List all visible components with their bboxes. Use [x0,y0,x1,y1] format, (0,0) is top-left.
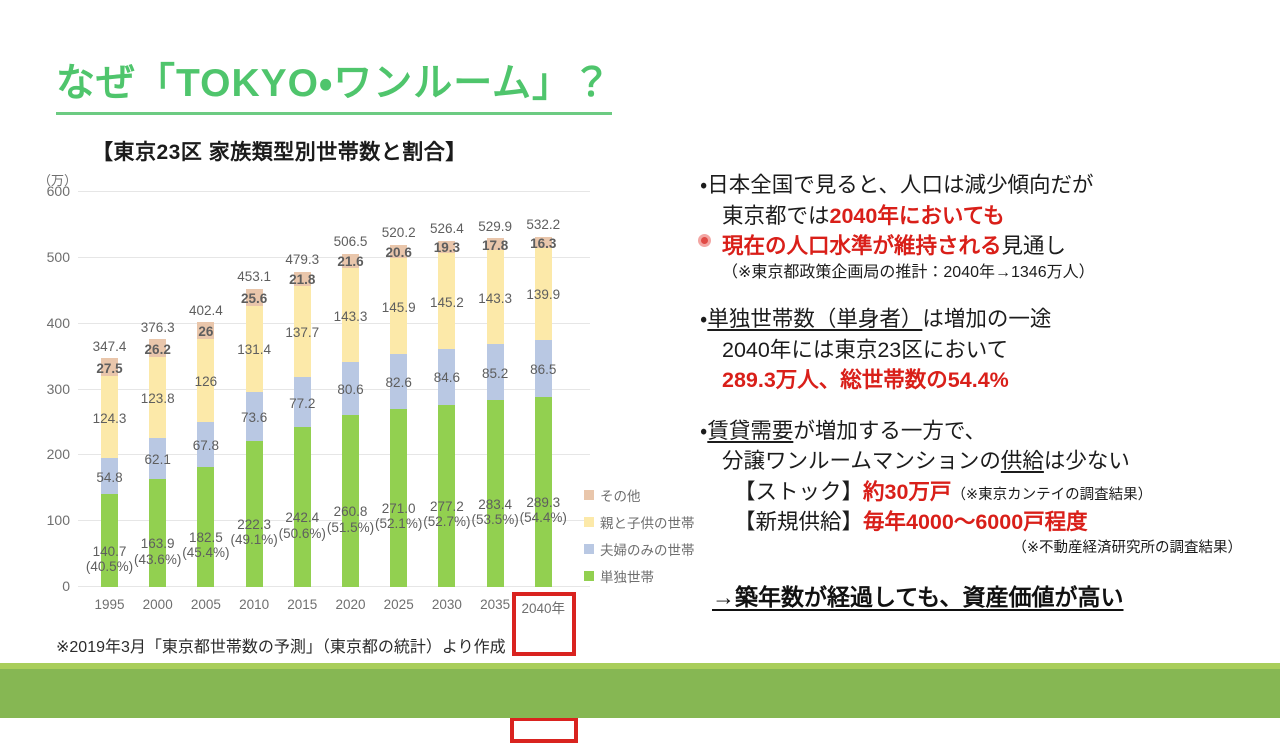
y-axis-tick: 300 [47,381,70,397]
para3-line4: 【新規供給】毎年4000～6000戸程度 [700,507,1260,538]
bar-value-label: 82.6 [386,375,412,391]
bar-total-label: 402.4 [189,303,223,319]
bar-value-label: 139.9 [526,287,560,303]
bar-value-label: 137.7 [285,325,319,341]
bar-value-label: 80.6 [337,382,363,398]
bar-total-label: 376.3 [141,320,175,336]
legend-item[interactable]: その他 [584,485,695,505]
bar-value-label: 145.2 [430,295,464,311]
bar-group[interactable]: 277.2(52.7%)84.6145.219.3526.42030 [438,192,455,587]
paragraph-population: ・日本全国で見ると、人口は減少傾向だが 東京都では2040年においても 現在の人… [700,170,1260,284]
bar-total-label: 347.4 [93,339,127,355]
para3-line3-label: 【ストック】 [734,480,863,504]
legend-label: 単独世帯 [600,566,654,586]
bar-group[interactable]: 283.4(53.5%)85.2143.317.8529.92035 [487,192,504,587]
x-axis-tick: 2035 [480,597,510,612]
bar-value-label: 21.6 [337,254,363,270]
para1-note: （※東京都政策企画局の推計：2040年→1346万人） [700,262,1260,285]
chart-legend: その他親と子供の世帯夫婦のみの世帯単独世帯 [584,485,695,593]
bar-value-label: 54.8 [96,470,122,486]
chart-panel: 【東京23区 家族類型別世帯数と割合】 （万） 0100200300400500… [0,128,700,648]
x-axis-tick: 2020 [335,597,365,612]
bar-segment-tanoku [294,427,311,587]
paragraph-supply: ・賃貸需要が増加する一方で、 分譲ワンルームマンションの供給は少ない 【ストック… [700,416,1260,559]
bar-value-label: 131.4 [237,342,271,358]
bar-total-label: 520.2 [382,225,416,241]
legend-item[interactable]: 夫婦のみの世帯 [584,539,695,559]
legend-swatch-icon [584,490,594,500]
bar-value-label: 86.5 [530,362,556,378]
y-axis-tick: 400 [47,315,70,331]
bar-total-label: 506.5 [334,234,368,250]
bar-segment-tanoku [342,415,359,587]
bar-value-label: 16.3 [530,236,556,252]
bar-value-label: 145.9 [382,300,416,316]
legend-swatch-icon [584,517,594,527]
paragraph-single-households: ・単独世帯数（単身者）は増加の一途 2040年には東京23区において 289.3… [700,304,1260,396]
bar-value-label: 73.6 [241,410,267,426]
chart-source-note: ※2019年3月「東京都世帯数の予測」（東京都の統計）より作成 [56,633,506,657]
bar-value-label: 182.5(45.4%) [182,530,229,561]
chart-title: 【東京23区 家族類型別世帯数と割合】 [92,136,467,166]
para3-line3-note: （※東京カンテイの調査結果） [951,487,1152,503]
bar-total-label: 453.1 [237,269,271,285]
bar-segment-tanoku [197,467,214,587]
x-axis-tick: 2010 [239,597,269,612]
bar-group[interactable]: 289.3(54.4%)86.5139.916.3532.22040年 [535,192,552,587]
para3-line4-note: （※不動産経済研究所の調査結果） [700,538,1260,559]
slide-root: なぜ「TOKYO・ワンルーム」？ 【東京23区 家族類型別世帯数と割合】 （万）… [0,0,1280,718]
x-axis-tick: 2000 [143,597,173,612]
para3-line1: ・賃貸需要が増加する一方で、 [700,416,1260,447]
page-title: なぜ「TOKYO・ワンルーム」？ [56,52,612,115]
para3-line2-b: は少ない [1044,449,1130,473]
para3-line3: 【ストック】約30万戸（※東京カンテイの調査結果） [700,477,1260,508]
bar-value-label: 67.8 [193,438,219,454]
bar-value-label: 271.0(52.1%) [375,501,422,532]
bar-value-label: 20.6 [386,245,412,261]
red-dot-bullet-icon [698,234,711,247]
legend-swatch-icon [584,544,594,554]
para3-line4-label: 【新規供給】 [734,510,863,534]
legend-item[interactable]: 単独世帯 [584,566,695,586]
x-axis-tick: 1995 [94,597,124,612]
bar-segment-tanoku [487,400,504,587]
y-axis-tick: 600 [47,183,70,199]
x-axis-tick: 2015 [287,597,317,612]
bar-value-label: 289.3(54.4%) [520,495,567,526]
para3-line3-red: 約30万戸 [863,480,951,504]
x-axis-tick: 2005 [191,597,221,612]
bar-value-label: 21.8 [289,272,315,288]
bar-value-label: 26.2 [145,342,171,358]
para1-line1: ・日本全国で見ると、人口は減少傾向だが [700,170,1260,201]
bar-value-label: 19.3 [434,240,460,256]
para1-line2-red: 2040年においても [830,204,1005,228]
bar-group[interactable]: 260.8(51.5%)80.6143.321.6506.52020 [342,192,359,587]
conclusion-text: →築年数が経過しても、資産価値が高い [700,578,1260,612]
bar-group[interactable]: 163.9(43.6%)62.1123.826.2376.32000 [149,192,166,587]
para2-line2: 2040年には東京23区において [700,335,1260,366]
bar-value-label: 77.2 [289,396,315,412]
bar-total-label: 526.4 [430,221,464,237]
para3-line2-underline: 供給 [1001,449,1044,473]
bar-value-label: 242.4(50.6%) [279,510,326,541]
bar-value-label: 277.2(52.7%) [423,499,470,530]
para1-line2: 東京都では2040年においても [700,201,1260,232]
bar-value-label: 26 [198,324,213,340]
text-panel: ・日本全国で見ると、人口は減少傾向だが 東京都では2040年においても 現在の人… [700,170,1260,612]
bar-value-label: 84.6 [434,370,460,386]
highlight-box-2040-value [512,592,576,656]
bar-value-label: 260.8(51.5%) [327,504,374,535]
bar-value-label: 17.8 [482,238,508,254]
bar-value-label: 27.5 [96,361,122,377]
legend-item[interactable]: 親と子供の世帯 [584,512,695,532]
bar-segment-tanoku [438,405,455,587]
para2-line1: ・単独世帯数（単身者）は増加の一途 [700,304,1260,335]
para1-line3-plain: 見通し [1002,234,1067,258]
bar-value-label: 222.3(49.1%) [230,517,277,548]
para2-line3: 289.3万人、総世帯数の54.4% [700,365,1260,396]
bar-value-label: 140.7(40.5%) [86,544,133,575]
bar-total-label: 532.2 [526,217,560,233]
legend-label: 夫婦のみの世帯 [600,539,695,559]
bar-segment-tanoku [246,441,263,587]
bar-value-label: 143.3 [334,309,368,325]
legend-swatch-icon [584,571,594,581]
bar-group[interactable]: 140.7(40.5%)54.8124.327.5347.41995 [101,192,118,587]
legend-label: 親と子供の世帯 [600,512,695,532]
bar-segment-tanoku [535,397,552,587]
bar-segment-tanoku [149,479,166,587]
bar-value-label: 163.9(43.6%) [134,536,181,567]
x-axis-tick: 2025 [384,597,414,612]
bar-value-label: 25.6 [241,291,267,307]
bar-group[interactable]: 271.0(52.1%)82.6145.920.6520.22025 [390,192,407,587]
para1-line3-red: 現在の人口水準が維持される [722,234,1002,258]
bar-group[interactable]: 222.3(49.1%)73.6131.425.6453.12010 [246,192,263,587]
bar-group[interactable]: 242.4(50.6%)77.2137.721.8479.32015 [294,192,311,587]
para3-line4-red: 毎年4000～6000戸程度 [863,510,1088,534]
y-axis-tick: 200 [47,446,70,462]
x-axis-tick: 2030 [432,597,462,612]
para3-line1-rest: が増加する一方で、 [793,419,986,443]
y-axis-tick: 500 [47,249,70,265]
footer-green-bar [0,663,1280,718]
bar-group[interactable]: 182.5(45.4%)67.812626402.42005 [197,192,214,587]
y-axis-tick: 100 [47,512,70,528]
bar-total-label: 479.3 [285,252,319,268]
bar-value-label: 62.1 [145,452,171,468]
para3-line1-underline: 賃貸需要 [707,419,793,443]
para3-line2-a: 分譲ワンルームマンションの [722,449,1001,473]
bar-value-label: 126 [195,374,218,390]
para1-line2-plain: 東京都では [722,204,830,228]
chart-plot-area: 0100200300400500600140.7(40.5%)54.8124.3… [78,192,590,587]
legend-label: その他 [600,485,641,505]
bar-total-label: 529.9 [478,219,512,235]
bar-value-label: 283.4(53.5%) [471,497,518,528]
bar-value-label: 124.3 [93,411,127,427]
highlight-box-2040-year [510,717,578,743]
para2-line1-rest: は増加の一途 [922,307,1051,331]
para1-line3: 現在の人口水準が維持される見通し [700,231,1260,262]
bar-value-label: 143.3 [478,291,512,307]
bar-value-label: 123.8 [141,391,175,407]
bar-segment-tanoku [390,409,407,587]
y-axis-tick: 0 [62,578,70,594]
para3-line2: 分譲ワンルームマンションの供給は少ない [700,446,1260,477]
bar-value-label: 85.2 [482,366,508,382]
para2-line1-underline: 単独世帯数（単身者） [707,307,922,331]
